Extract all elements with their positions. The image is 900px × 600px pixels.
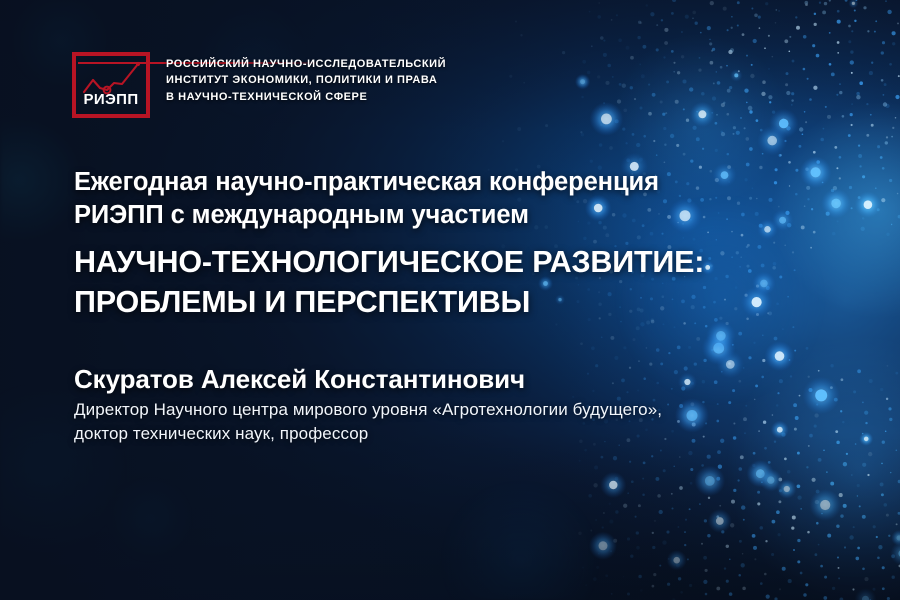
conference-title-slide: РИЭПП РОССИЙСКИЙ НАУЧНО-ИССЛЕДОВАТЕЛЬСКИ… (0, 0, 900, 600)
riepp-logo: РИЭПП РОССИЙСКИЙ НАУЧНО-ИССЛЕДОВАТЕЛЬСКИ… (72, 52, 446, 118)
logo-abbreviation: РИЭПП (76, 91, 146, 108)
speaker-name: Скуратов Алексей Константинович (74, 364, 525, 395)
conference-subtitle: Ежегодная научно-практическая конференци… (74, 166, 774, 232)
speaker-role: Директор Научного центра мирового уровня… (74, 398, 834, 446)
logo-frame: РИЭПП (72, 52, 150, 118)
organization-name: РОССИЙСКИЙ НАУЧНО-ИССЛЕДОВАТЕЛЬСКИЙ ИНСТ… (166, 52, 446, 105)
page-title: НАУЧНО-ТЕХНОЛОГИЧЕСКОЕ РАЗВИТИЕ: ПРОБЛЕМ… (74, 243, 834, 322)
